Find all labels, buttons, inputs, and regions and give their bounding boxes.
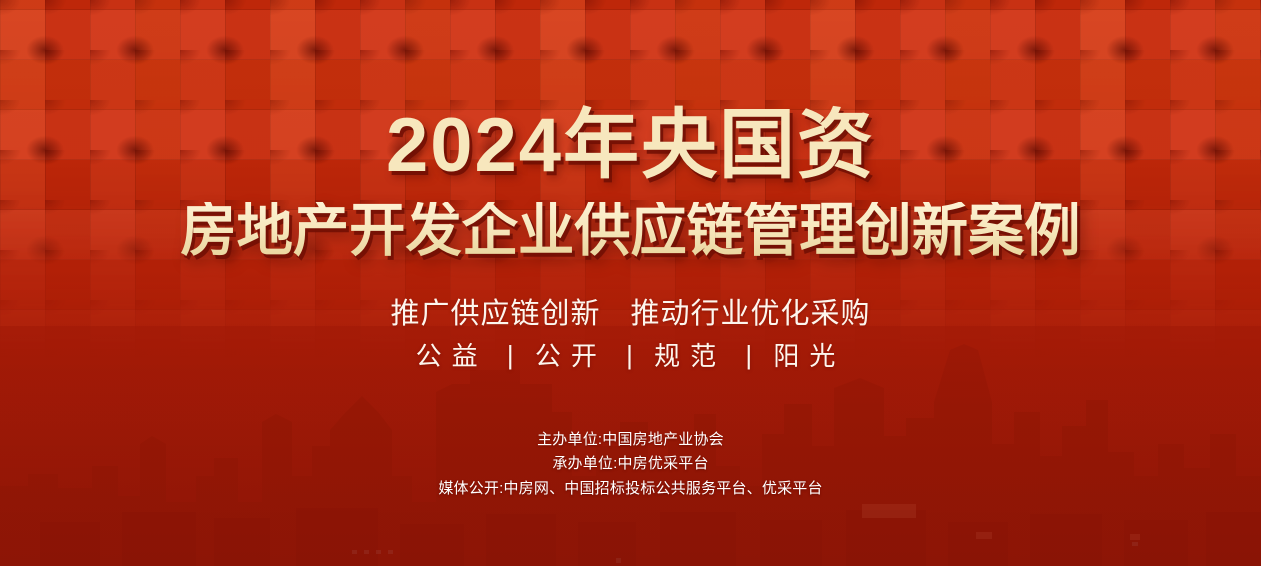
poster-banner: 2024年央国资 房地产开发企业供应链管理创新案例 推广供应链创新 推动行业优化… <box>0 0 1261 566</box>
poster-tagline: 推广供应链创新 推动行业优化采购 <box>0 296 1261 332</box>
poster-credits: 主办单位:中国房地产业协会 承办单位:中房优采平台 媒体公开:中房网、中国招标投… <box>0 428 1261 501</box>
value-separator-1: | <box>507 339 516 373</box>
value-item-3: 规范 <box>654 340 726 374</box>
poster-content: 2024年央国资 房地产开发企业供应链管理创新案例 推广供应链创新 推动行业优化… <box>0 0 1261 566</box>
poster-title-main: 2024年央国资 <box>0 108 1261 184</box>
value-item-1: 公益 <box>416 340 488 374</box>
value-separator-2: | <box>626 339 635 373</box>
value-item-2: 公开 <box>535 340 607 374</box>
poster-title-sub: 房地产开发企业供应链管理创新案例 <box>19 202 1242 260</box>
poster-values-row: 公益 | 公开 | 规范 | 阳光 <box>0 340 1261 374</box>
credit-media: 媒体公开:中房网、中国招标投标公共服务平台、优采平台 <box>0 477 1261 501</box>
value-item-4: 阳光 <box>773 340 845 374</box>
value-separator-3: | <box>745 339 754 373</box>
credit-organizer: 主办单位:中国房地产业协会 <box>0 428 1261 452</box>
credit-host: 承办单位:中房优采平台 <box>0 452 1261 476</box>
